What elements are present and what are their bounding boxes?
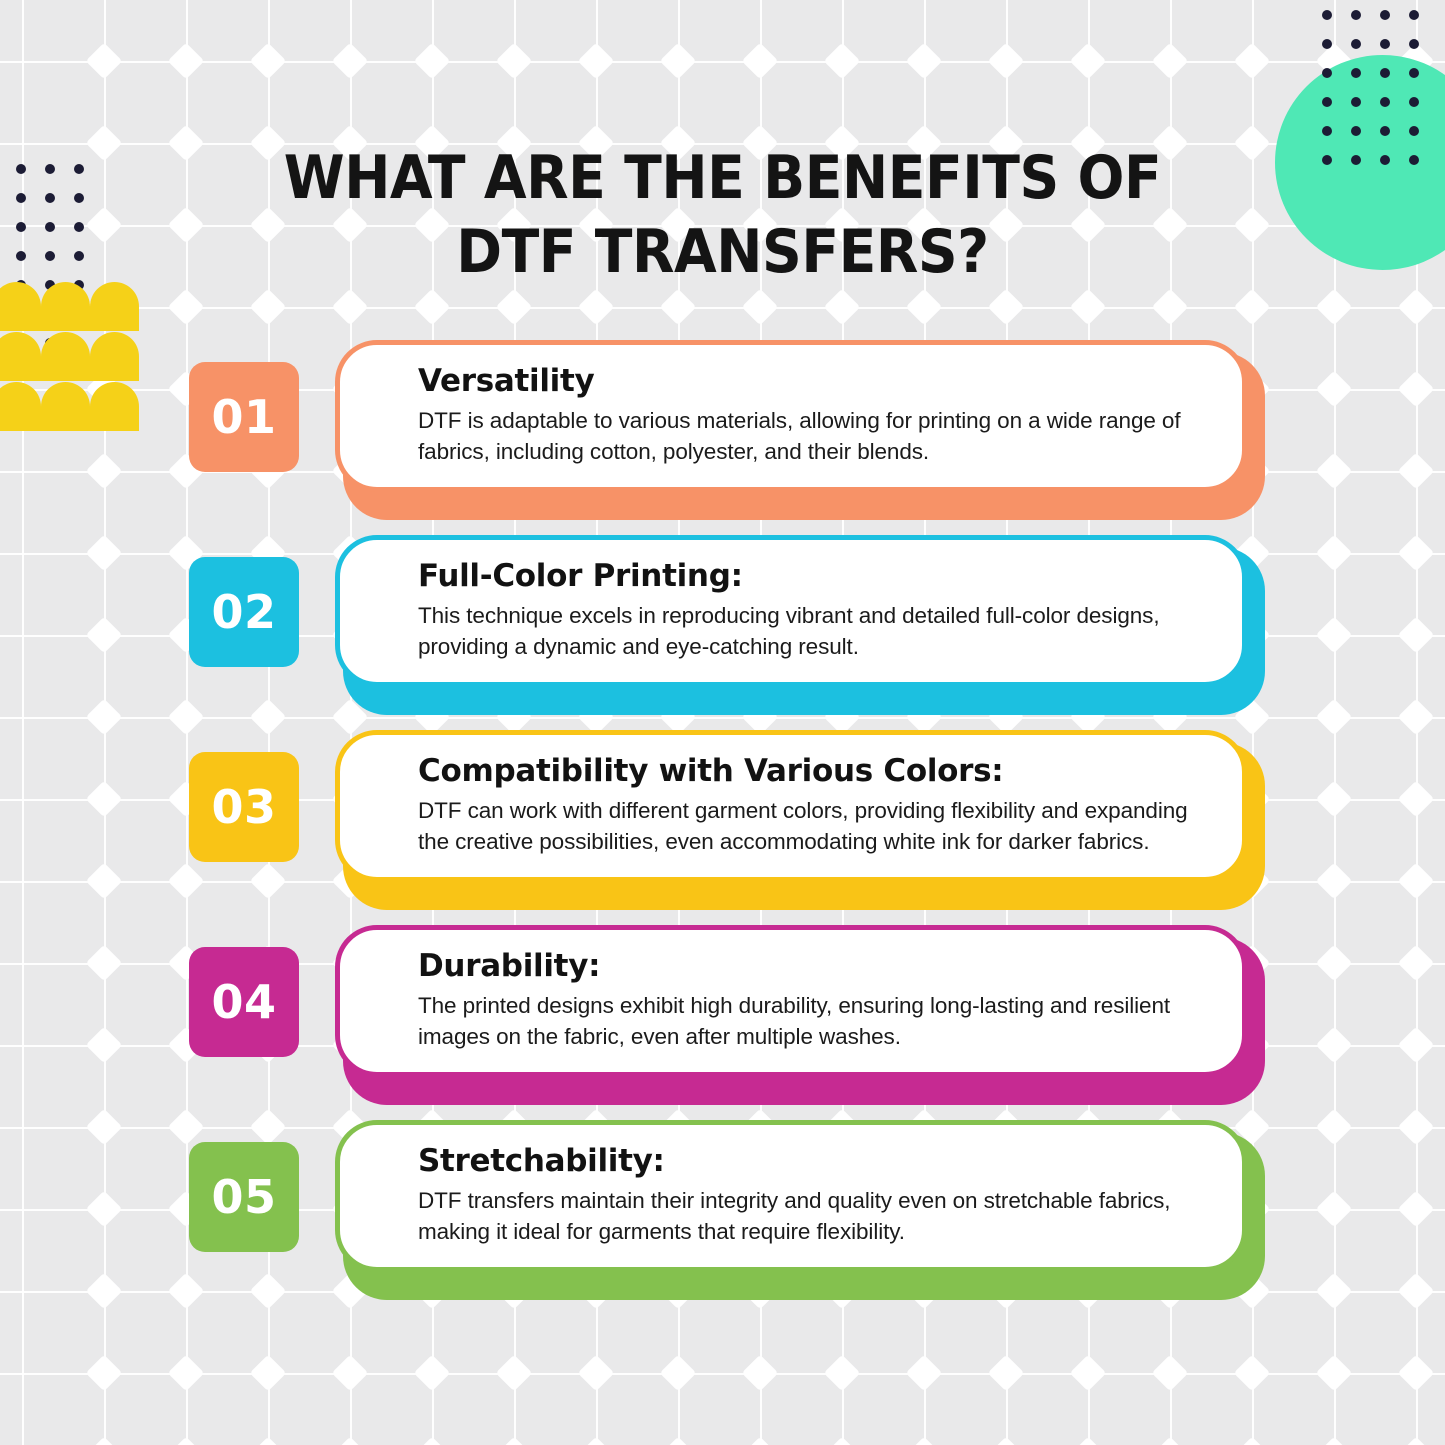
benefit-number-badge: 04 bbox=[189, 947, 299, 1057]
grid-diamond bbox=[578, 289, 615, 326]
grid-diamond bbox=[824, 1437, 861, 1445]
decor-dot bbox=[16, 222, 26, 232]
grid-diamond bbox=[332, 1355, 369, 1392]
decor-dot bbox=[1380, 10, 1390, 20]
grid-diamond bbox=[742, 1355, 779, 1392]
decor-dot bbox=[1409, 97, 1419, 107]
benefit-number-badge: 03 bbox=[189, 752, 299, 862]
decor-dot bbox=[1351, 155, 1361, 165]
decor-dot bbox=[1380, 155, 1390, 165]
card-body: Full-Color Printing:This technique excel… bbox=[335, 535, 1247, 687]
grid-diamond bbox=[1152, 1355, 1189, 1392]
dome-row bbox=[0, 282, 139, 331]
benefit-number-badge: 01 bbox=[189, 362, 299, 472]
decor-dot bbox=[45, 222, 55, 232]
grid-diamond bbox=[742, 43, 779, 80]
grid-diamond bbox=[332, 1437, 369, 1445]
infographic-page: WHAT ARE THE BENEFITS OF DTF TRANSFERS? … bbox=[0, 0, 1445, 1445]
grid-diamond bbox=[250, 1355, 287, 1392]
grid-diamond bbox=[660, 43, 697, 80]
grid-diamond bbox=[1234, 125, 1271, 162]
grid-diamond bbox=[660, 1437, 697, 1445]
grid-diamond bbox=[332, 289, 369, 326]
grid-diamond bbox=[496, 289, 533, 326]
benefit-row: 05Stretchability:DTF transfers maintain … bbox=[0, 1120, 1445, 1315]
grid-diamond bbox=[988, 1437, 1025, 1445]
grid-diamond bbox=[86, 1355, 123, 1392]
benefit-card[interactable]: Stretchability:DTF transfers maintain th… bbox=[335, 1120, 1257, 1298]
grid-diamond bbox=[496, 1355, 533, 1392]
grid-diamond bbox=[906, 289, 943, 326]
grid-diamond bbox=[1152, 1437, 1189, 1445]
grid-diamond bbox=[1316, 1437, 1353, 1445]
grid-diamond bbox=[1398, 1437, 1435, 1445]
dot-grid-top-right bbox=[1322, 10, 1438, 184]
grid-diamond bbox=[414, 1355, 451, 1392]
decor-dot bbox=[1409, 10, 1419, 20]
decor-dot bbox=[74, 164, 84, 174]
grid-diamond bbox=[906, 1437, 943, 1445]
card-body: Compatibility with Various Colors:DTF ca… bbox=[335, 730, 1247, 882]
decor-dot bbox=[1351, 97, 1361, 107]
page-title: WHAT ARE THE BENEFITS OF DTF TRANSFERS? bbox=[223, 142, 1221, 290]
grid-diamond bbox=[168, 1355, 205, 1392]
grid-diamond bbox=[414, 289, 451, 326]
grid-diamond bbox=[1234, 1355, 1271, 1392]
decor-dot bbox=[45, 251, 55, 261]
decor-dot bbox=[45, 193, 55, 203]
decor-dot bbox=[1380, 39, 1390, 49]
card-body: Durability:The printed designs exhibit h… bbox=[335, 925, 1247, 1077]
grid-diamond bbox=[906, 43, 943, 80]
benefit-row: 03Compatibility with Various Colors:DTF … bbox=[0, 730, 1445, 925]
grid-diamond bbox=[578, 1437, 615, 1445]
benefit-number-badge: 02 bbox=[189, 557, 299, 667]
grid-diamond bbox=[824, 1355, 861, 1392]
yellow-dome bbox=[0, 282, 41, 331]
grid-diamond bbox=[988, 43, 1025, 80]
benefit-card[interactable]: Compatibility with Various Colors:DTF ca… bbox=[335, 730, 1257, 908]
grid-diamond bbox=[1070, 1355, 1107, 1392]
benefit-description: The printed designs exhibit high durabil… bbox=[418, 991, 1208, 1052]
decor-dot bbox=[1322, 97, 1332, 107]
grid-diamond bbox=[86, 1437, 123, 1445]
grid-diamond bbox=[1234, 43, 1271, 80]
card-body: VersatilityDTF is adaptable to various m… bbox=[335, 340, 1247, 492]
grid-diamond bbox=[168, 207, 205, 244]
grid-diamond bbox=[1316, 1355, 1353, 1392]
grid-diamond bbox=[578, 43, 615, 80]
decor-dot bbox=[1409, 126, 1419, 136]
decor-dot bbox=[1409, 155, 1419, 165]
decor-dot bbox=[1322, 126, 1332, 136]
decor-dot bbox=[74, 222, 84, 232]
grid-diamond bbox=[824, 43, 861, 80]
decor-dot bbox=[1351, 10, 1361, 20]
grid-diamond bbox=[906, 1355, 943, 1392]
benefit-description: DTF can work with different garment colo… bbox=[418, 796, 1208, 857]
benefit-heading: Durability: bbox=[418, 948, 1208, 984]
grid-diamond bbox=[660, 1355, 697, 1392]
decor-dot bbox=[1351, 68, 1361, 78]
grid-diamond bbox=[250, 1437, 287, 1445]
grid-diamond bbox=[1152, 43, 1189, 80]
benefit-row: 01VersatilityDTF is adaptable to various… bbox=[0, 340, 1445, 535]
decor-dot bbox=[1322, 155, 1332, 165]
grid-diamond bbox=[332, 43, 369, 80]
benefit-heading: Versatility bbox=[418, 363, 1208, 399]
grid-diamond bbox=[168, 43, 205, 80]
grid-diamond bbox=[742, 1437, 779, 1445]
grid-diamond bbox=[1070, 43, 1107, 80]
benefit-row: 04Durability:The printed designs exhibit… bbox=[0, 925, 1445, 1120]
decor-dot bbox=[74, 251, 84, 261]
grid-diamond bbox=[1234, 207, 1271, 244]
decor-dot bbox=[1322, 39, 1332, 49]
decor-dot bbox=[1380, 68, 1390, 78]
decor-dot bbox=[1351, 39, 1361, 49]
grid-diamond bbox=[496, 1437, 533, 1445]
grid-diamond bbox=[496, 43, 533, 80]
grid-diamond bbox=[250, 289, 287, 326]
decor-dot bbox=[1351, 126, 1361, 136]
decor-dot bbox=[1409, 68, 1419, 78]
benefit-number-badge: 05 bbox=[189, 1142, 299, 1252]
grid-diamond bbox=[1234, 1437, 1271, 1445]
grid-diamond bbox=[660, 289, 697, 326]
decor-dot bbox=[1322, 68, 1332, 78]
grid-diamond bbox=[86, 43, 123, 80]
decor-dot bbox=[74, 193, 84, 203]
card-body: Stretchability:DTF transfers maintain th… bbox=[335, 1120, 1247, 1272]
yellow-dome bbox=[41, 282, 90, 331]
benefit-description: DTF is adaptable to various materials, a… bbox=[418, 406, 1208, 467]
decor-dot bbox=[1409, 39, 1419, 49]
decor-dot bbox=[16, 164, 26, 174]
benefit-card[interactable]: Durability:The printed designs exhibit h… bbox=[335, 925, 1257, 1103]
grid-diamond bbox=[1398, 1355, 1435, 1392]
benefit-heading: Compatibility with Various Colors: bbox=[418, 753, 1208, 789]
decor-dot bbox=[16, 193, 26, 203]
grid-diamond bbox=[824, 289, 861, 326]
decor-dot bbox=[1380, 97, 1390, 107]
grid-diamond bbox=[578, 1355, 615, 1392]
decor-dot bbox=[45, 164, 55, 174]
grid-diamond bbox=[1234, 289, 1271, 326]
grid-diamond bbox=[988, 289, 1025, 326]
benefit-row: 02Full-Color Printing:This technique exc… bbox=[0, 535, 1445, 730]
grid-diamond bbox=[1070, 289, 1107, 326]
grid-diamond bbox=[1398, 289, 1435, 326]
decor-dot bbox=[1322, 10, 1332, 20]
grid-diamond bbox=[414, 43, 451, 80]
benefit-heading: Stretchability: bbox=[418, 1143, 1208, 1179]
grid-diamond bbox=[86, 125, 123, 162]
grid-diamond bbox=[988, 1355, 1025, 1392]
benefit-description: This technique excels in reproducing vib… bbox=[418, 601, 1208, 662]
grid-diamond bbox=[742, 289, 779, 326]
grid-diamond bbox=[168, 289, 205, 326]
decor-dot bbox=[1380, 126, 1390, 136]
grid-diamond bbox=[1316, 289, 1353, 326]
grid-diamond bbox=[168, 125, 205, 162]
grid-diamond bbox=[414, 1437, 451, 1445]
grid-diamond bbox=[1070, 1437, 1107, 1445]
decor-dot bbox=[16, 251, 26, 261]
yellow-dome bbox=[90, 282, 139, 331]
benefit-description: DTF transfers maintain their integrity a… bbox=[418, 1186, 1208, 1247]
benefits-list: 01VersatilityDTF is adaptable to various… bbox=[0, 340, 1445, 1315]
grid-diamond bbox=[168, 1437, 205, 1445]
benefit-card[interactable]: Full-Color Printing:This technique excel… bbox=[335, 535, 1257, 713]
benefit-card[interactable]: VersatilityDTF is adaptable to various m… bbox=[335, 340, 1257, 518]
grid-diamond bbox=[1152, 289, 1189, 326]
grid-diamond bbox=[250, 43, 287, 80]
benefit-heading: Full-Color Printing: bbox=[418, 558, 1208, 594]
